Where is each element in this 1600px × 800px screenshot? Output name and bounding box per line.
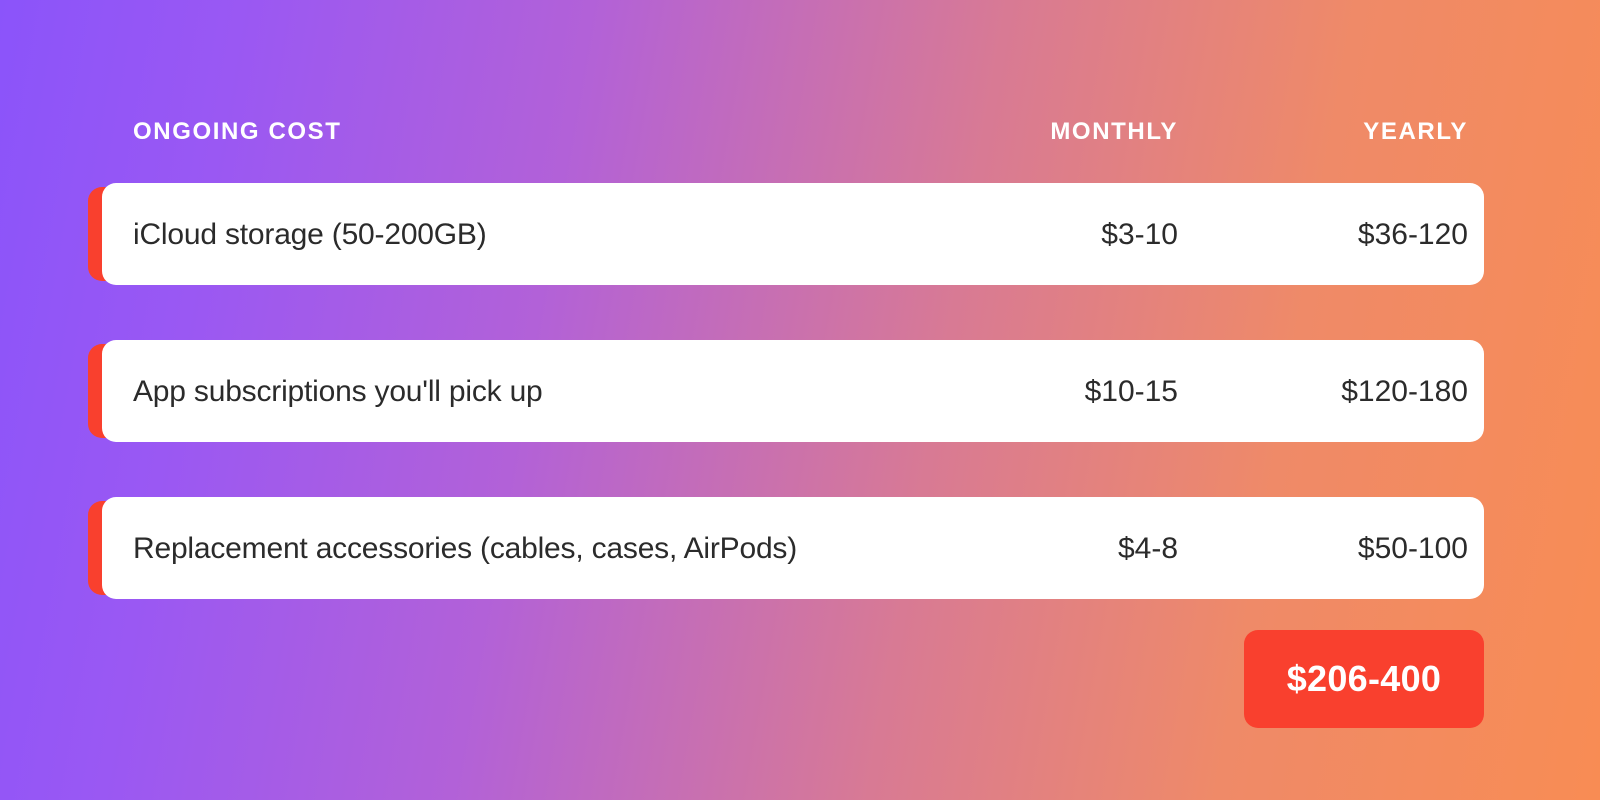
total-badge: $206-400 — [1244, 630, 1484, 728]
total-area: $206-400 — [102, 630, 1484, 728]
column-header-yearly: YEARLY — [1178, 120, 1468, 144]
cost-table-board: ONGOING COST MONTHLY YEARLY iCloud stora… — [0, 0, 1600, 800]
row-label: iCloud storage (50-200GB) — [133, 218, 848, 251]
table-row: iCloud storage (50-200GB) $3-10 $36-120 — [88, 183, 1484, 285]
row-monthly-value: $3-10 — [848, 218, 1178, 251]
table-rows: iCloud storage (50-200GB) $3-10 $36-120 … — [88, 183, 1484, 654]
table-row: App subscriptions you'll pick up $10-15 … — [88, 340, 1484, 442]
row-monthly-value: $4-8 — [848, 532, 1178, 565]
column-header-ongoing-cost: ONGOING COST — [133, 120, 848, 144]
row-yearly-value: $120-180 — [1178, 375, 1468, 408]
table-row: Replacement accessories (cables, cases, … — [88, 497, 1484, 599]
row-card: App subscriptions you'll pick up $10-15 … — [102, 340, 1484, 442]
total-value: $206-400 — [1287, 661, 1442, 697]
row-yearly-value: $36-120 — [1178, 218, 1468, 251]
row-card: iCloud storage (50-200GB) $3-10 $36-120 — [102, 183, 1484, 285]
row-card: Replacement accessories (cables, cases, … — [102, 497, 1484, 599]
row-label: App subscriptions you'll pick up — [133, 375, 848, 408]
column-header-monthly: MONTHLY — [848, 120, 1178, 144]
row-label: Replacement accessories (cables, cases, … — [133, 532, 848, 565]
row-monthly-value: $10-15 — [848, 375, 1178, 408]
row-yearly-value: $50-100 — [1178, 532, 1468, 565]
table-header-row: ONGOING COST MONTHLY YEARLY — [133, 112, 1468, 152]
